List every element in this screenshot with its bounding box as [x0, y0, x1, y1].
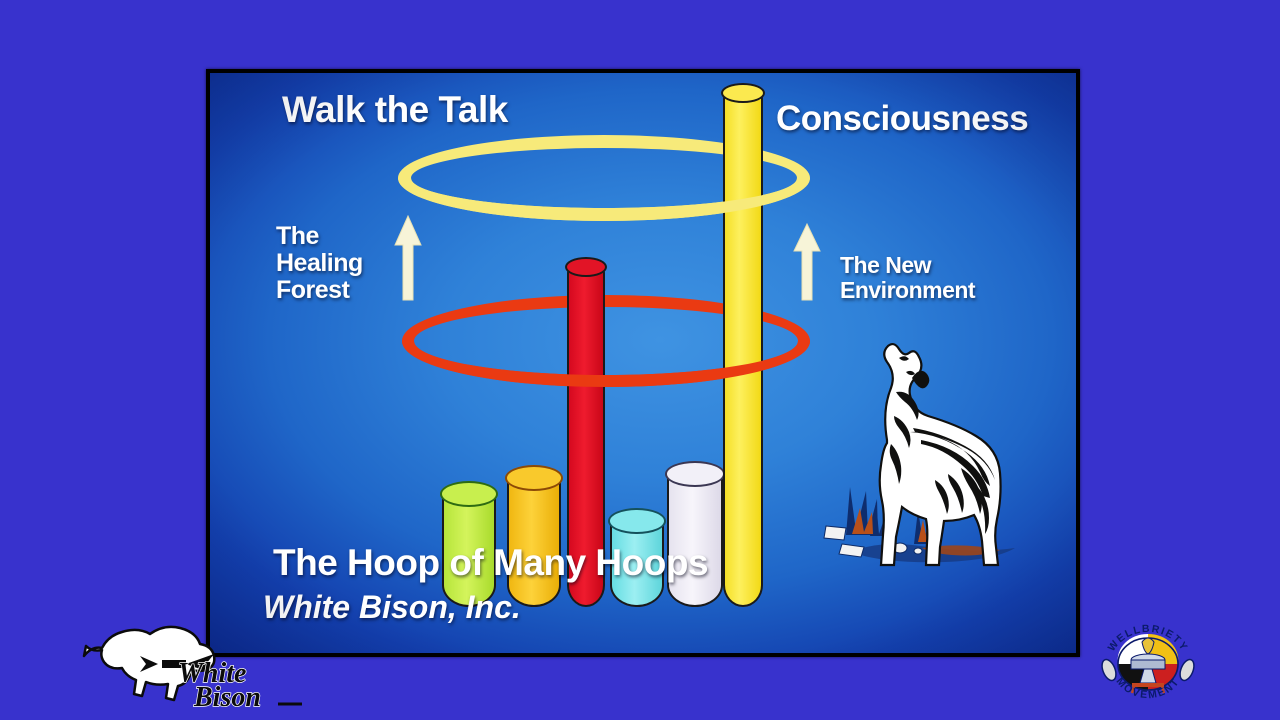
column-red-top [565, 257, 607, 277]
wellbriety-movement-logo: WELLBRIETY MOVEMENT [1098, 612, 1198, 712]
inner-hoop-red-front [402, 341, 810, 393]
column-white [667, 463, 723, 607]
slide-canvas: Walk the Talk Consciousness The Healing … [210, 73, 1076, 653]
column-cyan-top [608, 508, 666, 534]
column-consciousness-top [721, 83, 765, 103]
white-bison-logo-line2: Bison [193, 682, 261, 713]
column-gold-top [505, 465, 563, 491]
label-the-healing-forest: The Healing Forest [276, 223, 363, 304]
slide-frame: Walk the Talk Consciousness The Healing … [206, 69, 1080, 657]
outer-hoop-yellow-front-ring [398, 178, 810, 221]
caption-hoop-of-many-hoops: The Hoop of Many Hoops [273, 543, 708, 583]
outer-hoop-yellow-front [398, 178, 810, 228]
column-gold [507, 467, 561, 607]
column-white-top [665, 461, 725, 487]
left-arrow-up-icon [394, 215, 422, 306]
inner-hoop-red-front-ring [402, 341, 810, 387]
page-background: Walk the Talk Consciousness The Healing … [0, 0, 1280, 720]
headline-consciousness: Consciousness [776, 100, 1028, 138]
headline-walk-the-talk: Walk the Talk [282, 90, 508, 130]
howling-coyote-illustration [810, 320, 1050, 570]
label-the-new-environment: The New Environment [840, 253, 975, 303]
white-bison-logo: White Bison [62, 620, 302, 714]
right-arrow-up-icon [793, 223, 821, 306]
column-green-top [440, 481, 498, 507]
